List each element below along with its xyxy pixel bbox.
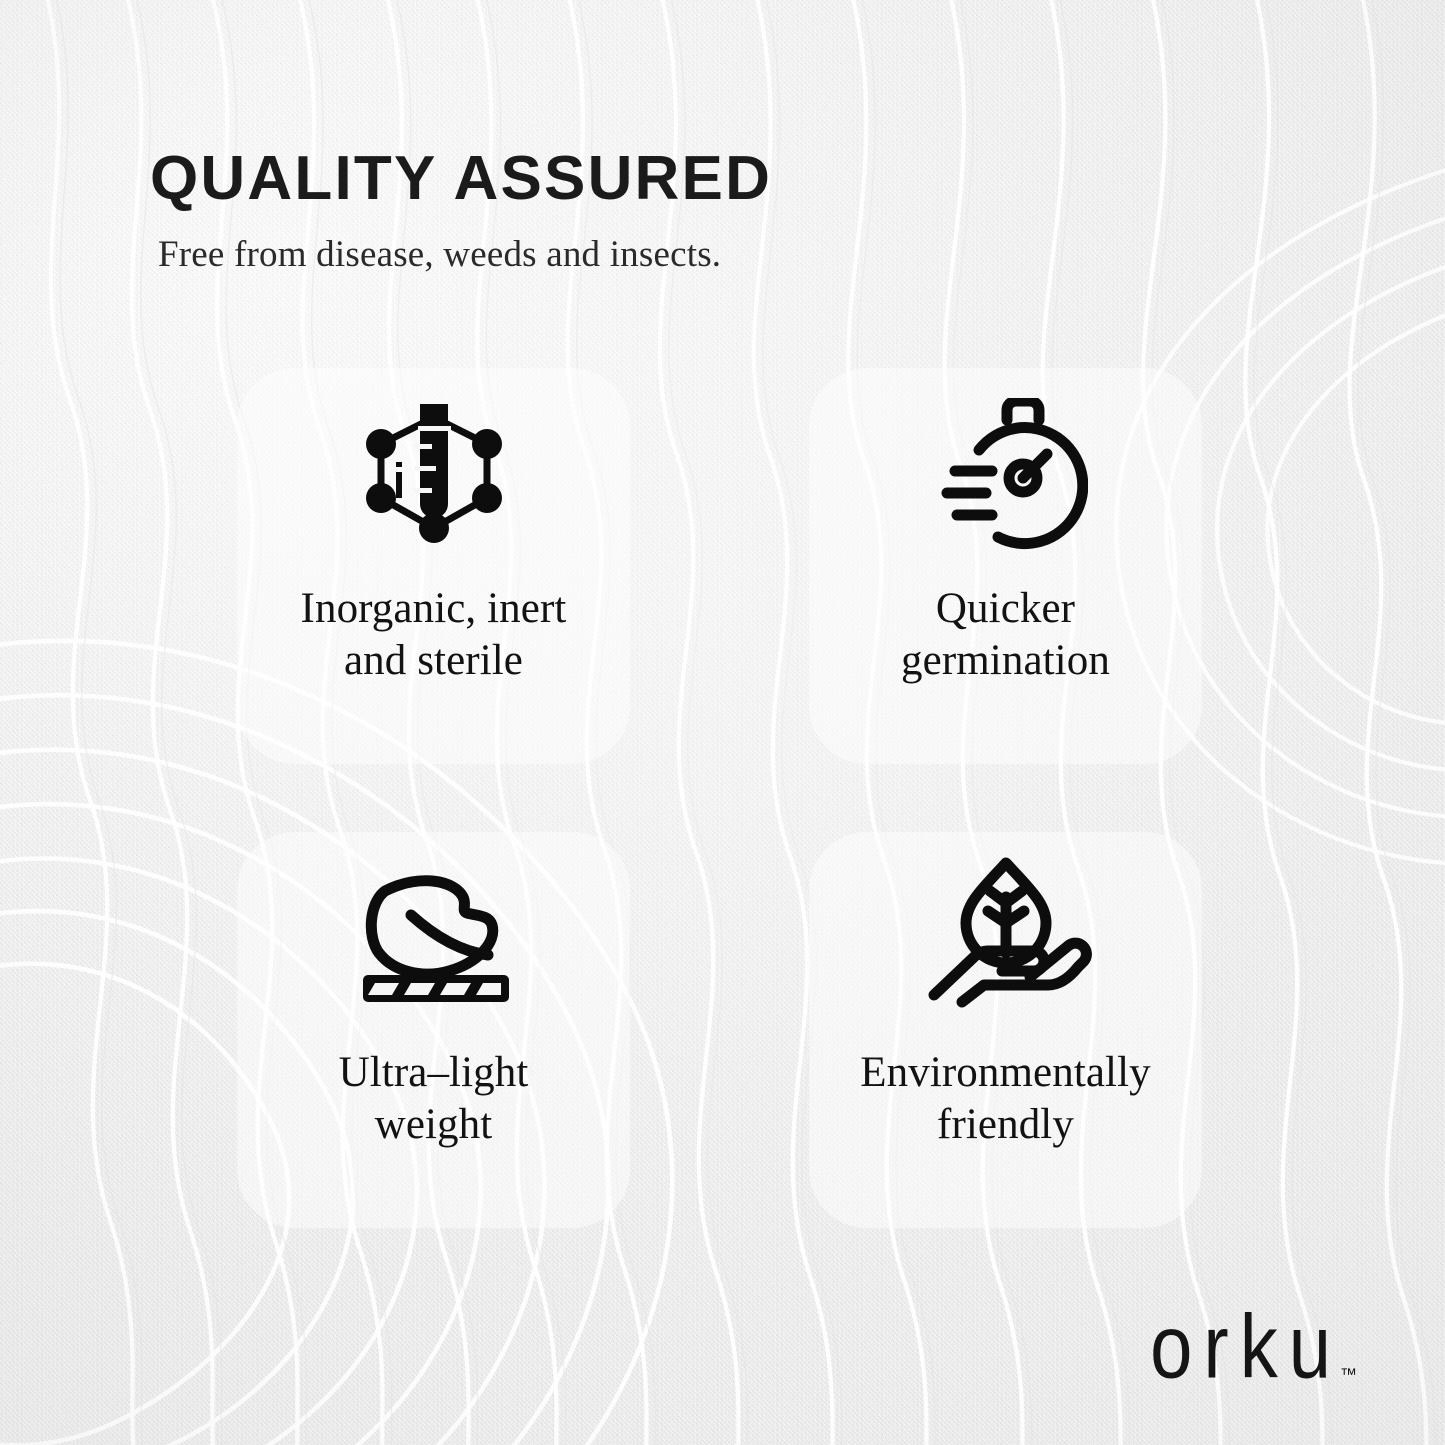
hand-holding-leaf-icon xyxy=(809,832,1202,1047)
feature-card-label: Inorganic, inert and sterile xyxy=(283,583,585,688)
feature-card-label: Quicker germination xyxy=(883,583,1128,688)
feature-label-line-2: weight xyxy=(339,1099,529,1151)
feature-card-label: Environmentally friendly xyxy=(842,1047,1169,1152)
feature-card-germination: Quicker germination xyxy=(809,368,1202,764)
feature-label-line-2: friendly xyxy=(860,1099,1151,1151)
feature-label-line-1: Environmentally xyxy=(860,1047,1151,1099)
header: QUALITY ASSURED Free from disease, weeds… xyxy=(150,146,1050,276)
feature-label-line-1: Inorganic, inert xyxy=(301,583,567,635)
feature-label-line-1: Quicker xyxy=(901,583,1110,635)
molecule-test-tube-icon xyxy=(237,368,630,583)
feature-card-ultralight: Ultra–light weight xyxy=(237,832,630,1228)
brand-logo-wordmark: orku xyxy=(1150,1303,1342,1393)
feature-card-eco: Environmentally friendly xyxy=(809,832,1202,1228)
feature-label-line-1: Ultra–light xyxy=(339,1047,529,1099)
poster-canvas: QUALITY ASSURED Free from disease, weeds… xyxy=(0,0,1445,1445)
brand-logo: orku ™ xyxy=(1150,1317,1357,1393)
feather-weight-icon xyxy=(237,832,630,1047)
page-title: QUALITY ASSURED xyxy=(150,146,1050,211)
page-subtitle: Free from disease, weeds and insects. xyxy=(158,233,1050,276)
trademark-symbol: ™ xyxy=(1340,1365,1357,1385)
feature-label-line-2: and sterile xyxy=(301,635,567,687)
feature-card-grid: Inorganic, inert and sterile xyxy=(237,368,1202,1228)
stopwatch-speed-icon xyxy=(809,368,1202,583)
feature-card-label: Ultra–light weight xyxy=(321,1047,547,1152)
feature-card-inorganic: Inorganic, inert and sterile xyxy=(237,368,630,764)
feature-label-line-2: germination xyxy=(901,635,1110,687)
